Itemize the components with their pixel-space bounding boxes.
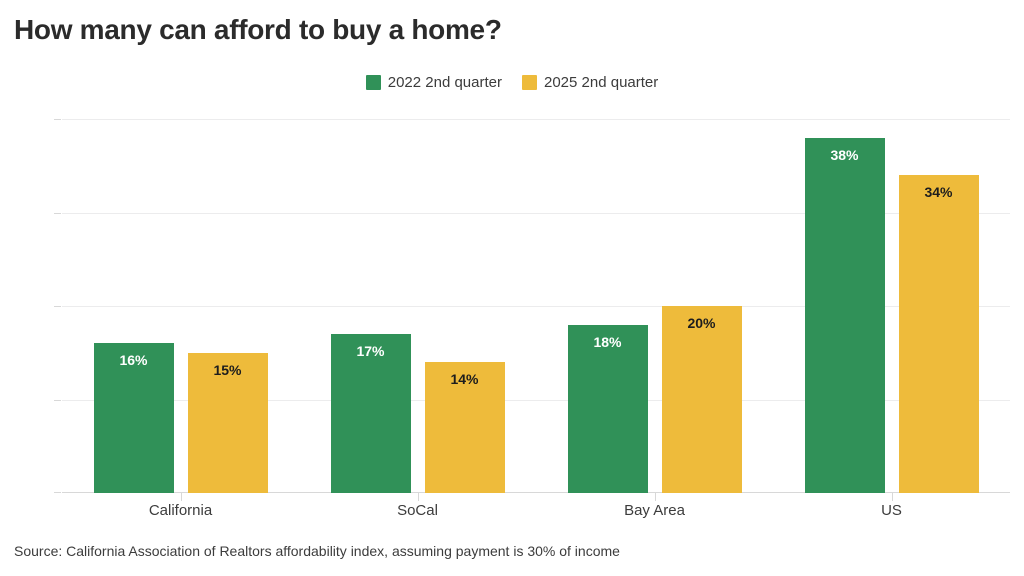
y-tick-mark [54,213,61,214]
x-tick-mark [418,493,419,501]
legend-label-2022: 2022 2nd quarter [388,74,502,91]
source-note: Source: California Association of Realto… [14,543,620,559]
legend-swatch-green-icon [366,75,381,90]
x-tick-mark [892,493,893,501]
x-axis-label-us: US [881,502,902,519]
chart-legend: 2022 2nd quarter 2025 2nd quarter [0,70,1024,94]
bar-value-label: 38% [805,147,885,163]
chart-title: How many can afford to buy a home? [14,14,502,46]
bar-value-label: 18% [568,334,648,350]
legend-item-2022[interactable]: 2022 2nd quarter [366,74,502,91]
bar-value-label: 16% [94,352,174,368]
y-tick-mark [54,306,61,307]
gridline-40% [62,119,1010,120]
y-tick-mark [54,492,61,493]
bar-value-label: 15% [188,362,268,378]
bar-bay-area-2022[interactable]: 18% [568,325,648,493]
legend-swatch-yellow-icon [522,75,537,90]
legend-label-2025: 2025 2nd quarter [544,74,658,91]
bar-value-label: 14% [425,371,505,387]
bar-value-label: 34% [899,184,979,200]
x-axis: CaliforniaSoCalBay AreaUS [62,493,1010,533]
bar-value-label: 20% [662,315,742,331]
legend-item-2025[interactable]: 2025 2nd quarter [522,74,658,91]
y-tick-mark [54,400,61,401]
y-tick-mark [54,119,61,120]
bar-us-2025[interactable]: 34% [899,175,979,493]
bar-california-2025[interactable]: 15% [188,353,268,493]
bar-california-2022[interactable]: 16% [94,343,174,493]
x-axis-label-bay-area: Bay Area [624,502,685,519]
bar-socal-2022[interactable]: 17% [331,334,411,493]
bar-value-label: 17% [331,343,411,359]
bar-chart: How many can afford to buy a home? 2022 … [0,0,1024,576]
x-tick-mark [655,493,656,501]
x-axis-label-california: California [149,502,212,519]
bar-socal-2025[interactable]: 14% [425,362,505,493]
plot-area: 0%10%20%30%40%16%15%17%14%18%20%38%34% [62,119,1010,493]
bar-bay-area-2025[interactable]: 20% [662,306,742,493]
x-tick-mark [181,493,182,501]
bar-us-2022[interactable]: 38% [805,138,885,493]
x-axis-label-socal: SoCal [397,502,438,519]
